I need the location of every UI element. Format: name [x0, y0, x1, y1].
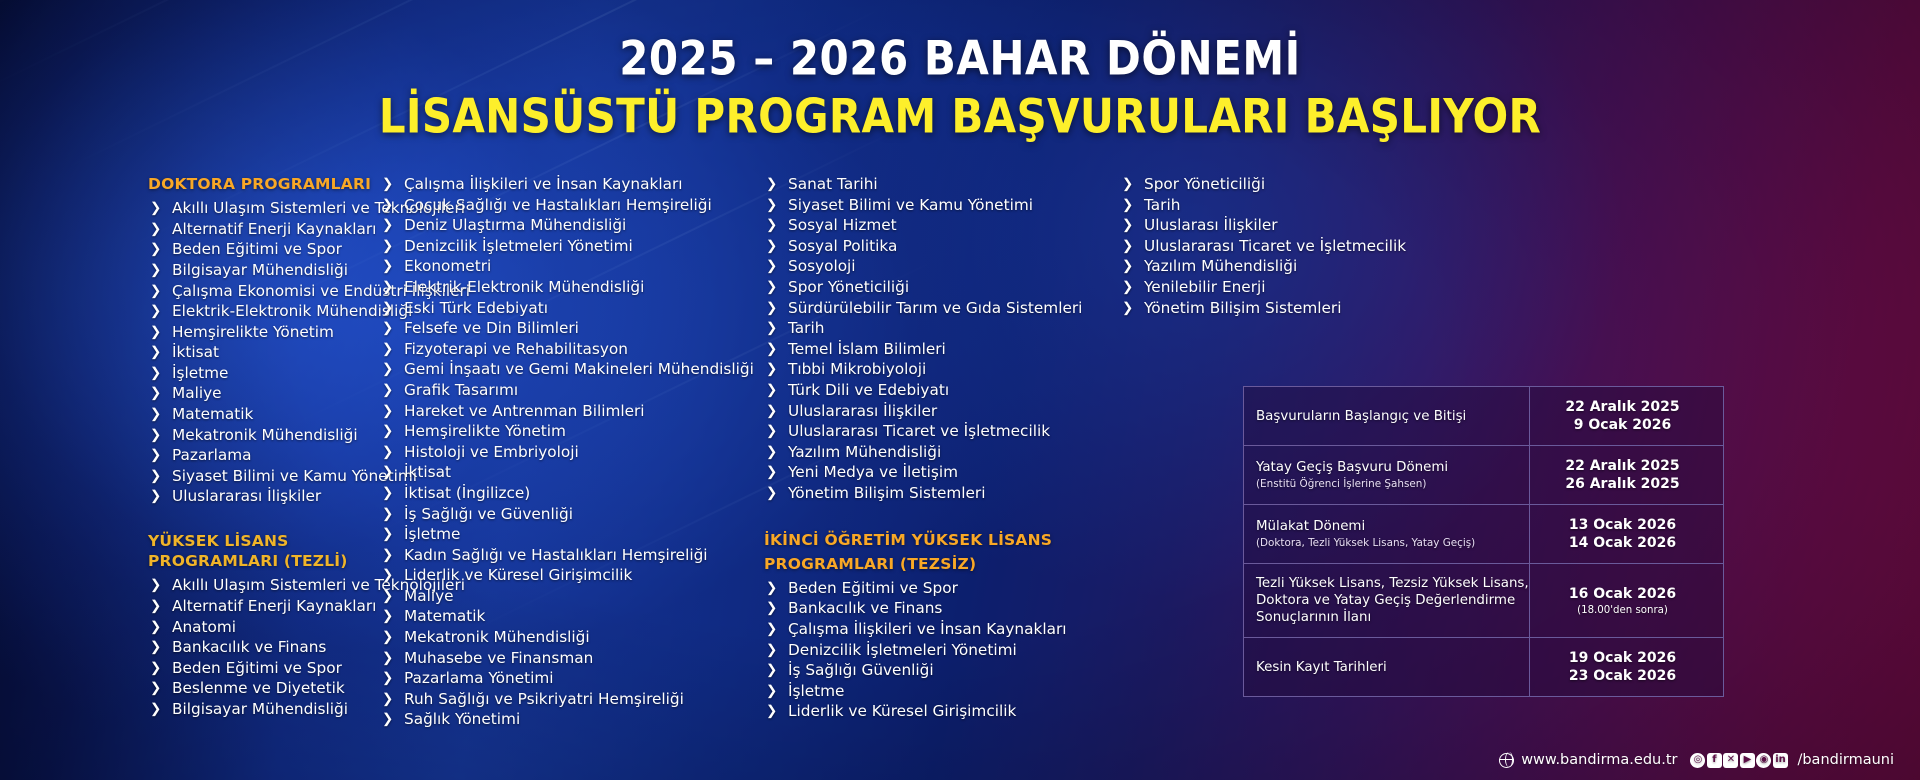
- program-list-item: ❯Spor Yöneticiliği: [764, 277, 1104, 298]
- program-list-item: ❯Uluslararası Ticaret ve İşletmecilik: [1120, 236, 1484, 257]
- list-doktora-programlari: ❯Akıllı Ulaşım Sistemleri ve Teknolojile…: [148, 198, 372, 507]
- chevron-right-icon: ❯: [766, 640, 777, 661]
- chevron-right-icon: ❯: [150, 658, 161, 679]
- chevron-right-icon: ❯: [1122, 277, 1133, 298]
- schedule-row-dates: 16 Ocak 2026(18.00'den sonra): [1530, 564, 1724, 638]
- program-list-item: ❯Yönetim Bilişim Sistemleri: [764, 483, 1104, 504]
- chevron-right-icon: ❯: [382, 380, 393, 401]
- chevron-right-icon: ❯: [382, 648, 393, 669]
- chevron-right-icon: ❯: [150, 260, 161, 281]
- program-list-item: ❯Hemşirelikte Yönetim: [148, 322, 372, 343]
- program-list-item: ❯Maliye: [148, 383, 372, 404]
- schedule-row-label: Kesin Kayıt Tarihleri: [1244, 638, 1530, 697]
- program-list-item: ❯Çalışma Ekonomisi ve Endüstri İlişkiler…: [148, 281, 372, 302]
- program-list-item: ❯Uluslararası İlişkiler: [148, 486, 372, 507]
- program-list-item: ❯İş Sağlığı Güvenliği: [764, 660, 1104, 681]
- program-name: Liderlik ve Küresel Girişimcilik: [404, 566, 632, 584]
- chevron-right-icon: ❯: [150, 637, 161, 658]
- program-name: İşletme: [172, 364, 228, 382]
- program-name: Tıbbi Mikrobiyoloji: [788, 360, 926, 378]
- program-list-item: ❯Matematik: [380, 606, 764, 627]
- chevron-right-icon: ❯: [766, 339, 777, 360]
- schedule-table: Başvuruların Başlangıç ve Bitişi22 Aralı…: [1243, 386, 1724, 697]
- program-list-item: ❯ Liderlik ve Küresel Girişimcilik: [764, 701, 1104, 722]
- schedule-date-end: 14 Ocak 2026: [1536, 534, 1709, 552]
- heading-ikinci-ogretim-line-2: PROGRAMLARI (TEZSİZ): [764, 554, 1104, 574]
- program-list-item: ❯İşletme: [764, 681, 1104, 702]
- chevron-right-icon: ❯: [150, 678, 161, 699]
- program-list-item: ❯Uluslararası İlişkiler: [764, 401, 1104, 422]
- list-ikinci-ogretim-tezsiz: ❯Beden Eğitimi ve Spor❯Bankacılık ve Fin…: [764, 578, 1104, 722]
- program-list-item: ❯İşletme: [148, 363, 372, 384]
- program-list-item: ❯Kadın Sağlığı ve Hastalıkları Hemşireli…: [380, 545, 764, 566]
- program-list-item: ❯Yazılım Mühendisliği: [1120, 256, 1484, 277]
- title-line-1: 2025 – 2026 BAHAR DÖNEMİ: [0, 34, 1920, 83]
- program-name: Yönetim Bilişim Sistemleri: [788, 484, 985, 502]
- chevron-right-icon: ❯: [150, 699, 161, 720]
- program-name: Beden Eğitimi ve Spor: [788, 579, 958, 597]
- program-list-item: ❯Uluslarası İlişkiler: [1120, 215, 1484, 236]
- program-list-item: ❯Yeni Medya ve İletişim: [764, 462, 1104, 483]
- chevron-right-icon: ❯: [1122, 298, 1133, 319]
- program-name: Anatomi: [172, 618, 236, 636]
- chevron-right-icon: ❯: [382, 421, 393, 442]
- program-name: İktisat (İngilizce): [404, 484, 530, 502]
- program-list-item: ❯Muhasebe ve Finansman: [380, 648, 764, 669]
- program-list-item: ❯İşletme: [380, 524, 764, 545]
- globe-icon: [1499, 753, 1514, 768]
- program-list-item: ❯Maliye: [380, 586, 764, 607]
- schedule-date-end: 9 Ocak 2026: [1536, 416, 1709, 434]
- schedule-date-start: 19 Ocak 2026: [1536, 649, 1709, 667]
- list-yuksek-lisans-tezli: ❯Akıllı Ulaşım Sistemleri ve Teknolojile…: [148, 575, 372, 719]
- chevron-right-icon: ❯: [150, 596, 161, 617]
- program-name: Pazarlama: [172, 446, 252, 464]
- chevron-right-icon: ❯: [150, 425, 161, 446]
- program-list-item: ❯Ekonometri: [380, 256, 764, 277]
- program-list-item: ❯Türk Dili ve Edebiyatı: [764, 380, 1104, 401]
- chevron-right-icon: ❯: [766, 256, 777, 277]
- program-name: Siyaset Bilimi ve Kamu Yönetimi: [788, 196, 1033, 214]
- chevron-right-icon: ❯: [1122, 215, 1133, 236]
- chevron-right-icon: ❯: [150, 445, 161, 466]
- program-name: Beden Eğitimi ve Spor: [172, 659, 342, 677]
- program-name: Çalışma İlişkileri ve İnsan Kaynakları: [404, 175, 683, 193]
- program-list-item: ❯Çalışma İlişkileri ve İnsan Kaynakları: [380, 174, 764, 195]
- chevron-right-icon: ❯: [382, 504, 393, 525]
- chevron-right-icon: ❯: [766, 660, 777, 681]
- social-handle: /bandirmauni: [1797, 752, 1894, 768]
- program-name: İktisat: [172, 343, 219, 361]
- program-list-item: ❯Çalışma İlişkileri ve İnsan Kaynakları: [764, 619, 1104, 640]
- program-list-item: ❯Deniz Ulaştırma Mühendisliği: [380, 215, 764, 236]
- program-list-item: ❯İktisat (İngilizce): [380, 483, 764, 504]
- chevron-right-icon: ❯: [382, 586, 393, 607]
- chevron-right-icon: ❯: [766, 298, 777, 319]
- chevron-right-icon: ❯: [382, 442, 393, 463]
- chevron-right-icon: ❯: [382, 277, 393, 298]
- program-list-item: ❯Hemşirelikte Yönetim: [380, 421, 764, 442]
- chevron-right-icon: ❯: [766, 462, 777, 483]
- chevron-right-icon: ❯: [150, 301, 161, 322]
- chevron-right-icon: ❯: [382, 689, 393, 710]
- chevron-right-icon: ❯: [150, 198, 161, 219]
- chevron-right-icon: ❯: [150, 383, 161, 404]
- program-name: Uluslararası Ticaret ve İşletmecilik: [1144, 237, 1406, 255]
- program-name: Uluslararası İlişkiler: [172, 487, 321, 505]
- program-name: Matematik: [172, 405, 253, 423]
- schedule-row-dates: 22 Aralık 20259 Ocak 2026: [1530, 387, 1724, 446]
- chevron-right-icon: ❯: [766, 483, 777, 504]
- program-name: Felsefe ve Din Bilimleri: [404, 319, 579, 337]
- program-name: Eski Türk Edebiyatı: [404, 299, 548, 317]
- schedule-row-dates: 19 Ocak 202623 Ocak 2026: [1530, 638, 1724, 697]
- program-list-item: ❯Hareket ve Antrenman Bilimleri: [380, 401, 764, 422]
- chevron-right-icon: ❯: [150, 239, 161, 260]
- schedule-row: Yatay Geçiş Başvuru Dönemi(Enstitü Öğren…: [1244, 446, 1724, 505]
- program-list-item: ❯Denizcilik İşletmeleri Yönetimi: [764, 640, 1104, 661]
- schedule-date-start: 22 Aralık 2025: [1536, 457, 1709, 475]
- chevron-right-icon: ❯: [382, 709, 393, 730]
- program-name: Sağlık Yönetimi: [404, 710, 520, 728]
- program-name: Grafik Tasarımı: [404, 381, 518, 399]
- program-list-item: ❯Fizyoterapi ve Rehabilitasyon: [380, 339, 764, 360]
- facebook-icon[interactable]: f: [1707, 753, 1722, 768]
- program-name: Beden Eğitimi ve Spor: [172, 240, 342, 258]
- program-name: Sanat Tarihi: [788, 175, 878, 193]
- program-name: Mekatronik Mühendisliği: [404, 628, 590, 646]
- chevron-right-icon: ❯: [766, 401, 777, 422]
- program-name: Hemşirelikte Yönetim: [172, 323, 334, 341]
- program-list-item: ❯Siyaset Bilimi ve Kamu Yönetimi: [764, 195, 1104, 216]
- list-yuksek-lisans-tezli-cont-2: ❯Sanat Tarihi❯Siyaset Bilimi ve Kamu Yön…: [764, 174, 1104, 504]
- chevron-right-icon: ❯: [150, 342, 161, 363]
- program-list-item: ❯Sosyal Hizmet: [764, 215, 1104, 236]
- list-yuksek-lisans-tezli-cont-3: ❯Spor Yöneticiliği❯Tarih❯Uluslarası İliş…: [1120, 174, 1484, 318]
- footer-contact: www.bandirma.edu.tr ◎f✕▶◉in /bandirmauni: [1499, 752, 1894, 768]
- chevron-right-icon: ❯: [150, 466, 161, 487]
- program-name: Pazarlama Yönetimi: [404, 669, 554, 687]
- program-name: Çocuk Sağlığı ve Hastalıkları Hemşireliğ…: [404, 196, 712, 214]
- program-list-item: ❯Anatomi: [148, 617, 372, 638]
- social-icons: ◎f✕▶◉in: [1690, 753, 1789, 768]
- column-3: ❯Sanat Tarihi❯Siyaset Bilimi ve Kamu Yön…: [764, 174, 1104, 730]
- chevron-right-icon: ❯: [766, 318, 777, 339]
- telegram-icon[interactable]: ◉: [1756, 753, 1771, 768]
- heading-doktora-programlari: DOKTORA PROGRAMLARI: [148, 174, 372, 194]
- chevron-right-icon: ❯: [382, 236, 393, 257]
- schedule-row-dates: 22 Aralık 202526 Aralık 2025: [1530, 446, 1724, 505]
- program-list-item: ❯Beslenme ve Diyetetik: [148, 678, 372, 699]
- chevron-right-icon: ❯: [382, 256, 393, 277]
- program-name: Maliye: [172, 384, 222, 402]
- schedule-date-note: (18.00'den sonra): [1536, 604, 1709, 617]
- program-name: Yazılım Mühendisliği: [788, 443, 941, 461]
- chevron-right-icon: ❯: [382, 318, 393, 339]
- program-name: Sosyoloji: [788, 257, 856, 275]
- program-list-item: ❯Tarih: [764, 318, 1104, 339]
- poster-header: 2025 – 2026 BAHAR DÖNEMİ LİSANSÜSTÜ PROG…: [0, 34, 1920, 136]
- schedule-label-sub: (Doktora, Tezli Yüksek Lisans, Yatay Geç…: [1256, 536, 1529, 550]
- schedule-row: Mülakat Dönemi(Doktora, Tezli Yüksek Lis…: [1244, 505, 1724, 564]
- program-name: Fizyoterapi ve Rehabilitasyon: [404, 340, 628, 358]
- program-name: Alternatif Enerji Kaynakları: [172, 220, 376, 238]
- schedule-date-end: 26 Aralık 2025: [1536, 475, 1709, 493]
- program-list-item: ❯Bilgisayar Mühendisliği: [148, 260, 372, 281]
- column-2: ❯Çalışma İlişkileri ve İnsan Kaynakları❯…: [372, 174, 764, 730]
- schedule-row-label: Tezli Yüksek Lisans, Tezsiz Yüksek Lisan…: [1244, 564, 1530, 638]
- chevron-right-icon: ❯: [150, 363, 161, 384]
- program-name: Elektrik-Elektronik Mühendisliği: [404, 278, 644, 296]
- chevron-right-icon: ❯: [766, 215, 777, 236]
- program-list-item: ❯Matematik: [148, 404, 372, 425]
- program-name: Muhasebe ve Finansman: [404, 649, 593, 667]
- schedule-date-start: 16 Ocak 2026: [1536, 585, 1709, 603]
- program-list-item: ❯Sosyoloji: [764, 256, 1104, 277]
- chevron-right-icon: ❯: [382, 174, 393, 195]
- program-name: Alternatif Enerji Kaynakları: [172, 597, 376, 615]
- program-list-item: ❯Spor Yöneticiliği: [1120, 174, 1484, 195]
- program-list-item: ❯Bankacılık ve Finans: [764, 598, 1104, 619]
- chevron-right-icon: ❯: [766, 277, 777, 298]
- program-list-item: ❯Tarih: [1120, 195, 1484, 216]
- chevron-right-icon: ❯: [150, 575, 161, 596]
- program-list-item: ❯Eski Türk Edebiyatı: [380, 298, 764, 319]
- program-list-item: ❯Uluslararası Ticaret ve İşletmecilik: [764, 421, 1104, 442]
- chevron-right-icon: ❯: [382, 298, 393, 319]
- program-name: Deniz Ulaştırma Mühendisliği: [404, 216, 626, 234]
- chevron-right-icon: ❯: [382, 339, 393, 360]
- program-name: Uluslararası İlişkiler: [788, 402, 937, 420]
- program-name: Gemi İnşaatı ve Gemi Makineleri Mühendis…: [404, 360, 754, 378]
- program-list-item: ❯İktisat: [148, 342, 372, 363]
- program-list-item: ❯Elektrik-Elektronik Mühendisliği: [380, 277, 764, 298]
- schedule-label-main: Tezli Yüksek Lisans, Tezsiz Yüksek Lisan…: [1256, 576, 1529, 625]
- program-name: Histoloji ve Embriyoloji: [404, 443, 579, 461]
- chevron-right-icon: ❯: [766, 578, 777, 599]
- program-name: Tarih: [788, 319, 824, 337]
- chevron-right-icon: ❯: [766, 380, 777, 401]
- program-name: Bankacılık ve Finans: [172, 638, 326, 656]
- instagram-icon[interactable]: ◎: [1690, 753, 1705, 768]
- program-name: Maliye: [404, 587, 454, 605]
- program-list-item: ❯Temel İslam Bilimleri: [764, 339, 1104, 360]
- schedule-label-main: Mülakat Dönemi: [1256, 519, 1365, 534]
- program-list-item: ❯Beden Eğitimi ve Spor: [148, 239, 372, 260]
- program-name: Yönetim Bilişim Sistemleri: [1144, 299, 1341, 317]
- program-name: Denizcilik İşletmeleri Yönetimi: [404, 237, 633, 255]
- program-name: Hemşirelikte Yönetim: [404, 422, 566, 440]
- heading-yuksek-lisans-tezli: YÜKSEK LİSANS PROGRAMLARI (TEZLİ): [148, 531, 372, 571]
- program-list-item: ❯Alternatif Enerji Kaynakları: [148, 596, 372, 617]
- program-name: İktisat: [404, 463, 451, 481]
- program-list-item: ❯Akıllı Ulaşım Sistemleri ve Teknolojile…: [148, 198, 372, 219]
- program-list-item: ❯Mekatronik Mühendisliği: [380, 627, 764, 648]
- chevron-right-icon: ❯: [382, 195, 393, 216]
- chevron-right-icon: ❯: [1122, 195, 1133, 216]
- program-name: Uluslarası İlişkiler: [1144, 216, 1278, 234]
- program-name: Hareket ve Antrenman Bilimleri: [404, 402, 645, 420]
- program-name: Bilgisayar Mühendisliği: [172, 700, 348, 718]
- program-list-item: ❯Gemi İnşaatı ve Gemi Makineleri Mühendi…: [380, 359, 764, 380]
- chevron-right-icon: ❯: [382, 215, 393, 236]
- chevron-right-icon: ❯: [766, 598, 777, 619]
- chevron-right-icon: ❯: [382, 462, 393, 483]
- program-name: Ruh Sağlığı ve Psikriyatri Hemşireliği: [404, 690, 684, 708]
- program-list-item: ❯Tıbbi Mikrobiyoloji: [764, 359, 1104, 380]
- schedule-date-start: 13 Ocak 2026: [1536, 516, 1709, 534]
- program-name: Yazılım Mühendisliği: [1144, 257, 1297, 275]
- program-name: Denizcilik İşletmeleri Yönetimi: [788, 641, 1017, 659]
- chevron-right-icon: ❯: [382, 565, 393, 586]
- program-name: Türk Dili ve Edebiyatı: [788, 381, 949, 399]
- program-list-item: ❯Sürdürülebilir Tarım ve Gıda Sistemleri: [764, 298, 1104, 319]
- program-list-item: ❯Liderlik ve Küresel Girişimcilik: [380, 565, 764, 586]
- schedule-row: Başvuruların Başlangıç ve Bitişi22 Aralı…: [1244, 387, 1724, 446]
- schedule-label-main: Yatay Geçiş Başvuru Dönemi: [1256, 460, 1448, 475]
- chevron-right-icon: ❯: [382, 606, 393, 627]
- chevron-right-icon: ❯: [766, 701, 777, 722]
- program-list-item: ❯Mekatronik Mühendisliği: [148, 425, 372, 446]
- program-name: Uluslararası Ticaret ve İşletmecilik: [788, 422, 1050, 440]
- program-name: Bilgisayar Mühendisliği: [172, 261, 348, 279]
- chevron-right-icon: ❯: [766, 681, 777, 702]
- chevron-right-icon: ❯: [150, 219, 161, 240]
- chevron-right-icon: ❯: [382, 359, 393, 380]
- schedule-label-main: Kesin Kayıt Tarihleri: [1256, 660, 1387, 675]
- program-list-item: ❯İş Sağlığı ve Güvenliği: [380, 504, 764, 525]
- chevron-right-icon: ❯: [150, 404, 161, 425]
- program-name: Mekatronik Mühendisliği: [172, 426, 358, 444]
- program-list-item: ❯Elektrik-Elektronik Mühendisliği: [148, 301, 372, 322]
- program-list-item: ❯Alternatif Enerji Kaynakları: [148, 219, 372, 240]
- program-name: Çalışma İlişkileri ve İnsan Kaynakları: [788, 620, 1067, 638]
- heading-ikinci-ogretim-line-1: İKİNCİ ÖĞRETİM YÜKSEK LİSANS: [764, 530, 1104, 550]
- program-name: İşletme: [788, 682, 844, 700]
- program-list-item: ❯Sanat Tarihi: [764, 174, 1104, 195]
- program-name: Spor Yöneticiliği: [788, 278, 909, 296]
- program-name: Tarih: [1144, 196, 1180, 214]
- chevron-right-icon: ❯: [1122, 236, 1133, 257]
- chevron-right-icon: ❯: [766, 359, 777, 380]
- program-list-item: ❯Pazarlama Yönetimi: [380, 668, 764, 689]
- schedule-row-label: Yatay Geçiş Başvuru Dönemi(Enstitü Öğren…: [1244, 446, 1530, 505]
- program-list-item: ❯Beden Eğitimi ve Spor: [764, 578, 1104, 599]
- youtube-icon[interactable]: ▶: [1740, 753, 1755, 768]
- chevron-right-icon: ❯: [1122, 174, 1133, 195]
- chevron-right-icon: ❯: [1122, 256, 1133, 277]
- program-list-item: ❯Denizcilik İşletmeleri Yönetimi: [380, 236, 764, 257]
- chevron-right-icon: ❯: [382, 627, 393, 648]
- chevron-right-icon: ❯: [766, 619, 777, 640]
- program-list-item: ❯Sağlık Yönetimi: [380, 709, 764, 730]
- program-name: Liderlik ve Küresel Girişimcilik: [788, 702, 1016, 720]
- program-list-item: ❯Beden Eğitimi ve Spor: [148, 658, 372, 679]
- schedule-row: Tezli Yüksek Lisans, Tezsiz Yüksek Lisan…: [1244, 564, 1724, 638]
- schedule-label-main: Başvuruların Başlangıç ve Bitişi: [1256, 409, 1466, 424]
- column-1: DOKTORA PROGRAMLARI ❯Akıllı Ulaşım Siste…: [0, 174, 372, 730]
- schedule-table-body: Başvuruların Başlangıç ve Bitişi22 Aralı…: [1244, 387, 1724, 697]
- chevron-right-icon: ❯: [382, 524, 393, 545]
- chevron-right-icon: ❯: [150, 486, 161, 507]
- program-list-item: ❯Bilgisayar Mühendisliği: [148, 699, 372, 720]
- chevron-right-icon: ❯: [382, 483, 393, 504]
- program-name: Beslenme ve Diyetetik: [172, 679, 345, 697]
- program-name: Sosyal Politika: [788, 237, 897, 255]
- schedule-row-label: Başvuruların Başlangıç ve Bitişi: [1244, 387, 1530, 446]
- program-name: İş Sağlığı Güvenliği: [788, 661, 934, 679]
- schedule-row: Kesin Kayıt Tarihleri19 Ocak 202623 Ocak…: [1244, 638, 1724, 697]
- website-url[interactable]: www.bandirma.edu.tr: [1521, 752, 1677, 768]
- x-twitter-icon[interactable]: ✕: [1723, 753, 1738, 768]
- program-list-item: ❯Yazılım Mühendisliği: [764, 442, 1104, 463]
- program-list-item: ❯Felsefe ve Din Bilimleri: [380, 318, 764, 339]
- program-name: Yenilebilir Enerji: [1144, 278, 1266, 296]
- chevron-right-icon: ❯: [766, 174, 777, 195]
- program-list-item: ❯Sosyal Politika: [764, 236, 1104, 257]
- program-list-item: ❯Yenilebilir Enerji: [1120, 277, 1484, 298]
- schedule-date-start: 22 Aralık 2025: [1536, 398, 1709, 416]
- program-name: Kadın Sağlığı ve Hastalıkları Hemşireliğ…: [404, 546, 708, 564]
- chevron-right-icon: ❯: [150, 281, 161, 302]
- schedule-row-dates: 13 Ocak 202614 Ocak 2026: [1530, 505, 1724, 564]
- list-yuksek-lisans-tezli-cont-1: ❯Çalışma İlişkileri ve İnsan Kaynakları❯…: [380, 174, 764, 730]
- program-list-item: ❯İktisat: [380, 462, 764, 483]
- program-list-item: ❯Grafik Tasarımı: [380, 380, 764, 401]
- chevron-right-icon: ❯: [382, 668, 393, 689]
- schedule-date-end: 23 Ocak 2026: [1536, 667, 1709, 685]
- title-line-2: LİSANSÜSTÜ PROGRAM BAŞVURULARI BAŞLIYOR: [0, 92, 1920, 141]
- program-list-item: ❯Ruh Sağlığı ve Psikriyatri Hemşireliği: [380, 689, 764, 710]
- program-list-item: ❯Pazarlama: [148, 445, 372, 466]
- chevron-right-icon: ❯: [766, 421, 777, 442]
- program-list-item: ❯Bankacılık ve Finans: [148, 637, 372, 658]
- schedule-row-label: Mülakat Dönemi(Doktora, Tezli Yüksek Lis…: [1244, 505, 1530, 564]
- chevron-right-icon: ❯: [382, 545, 393, 566]
- program-name: Matematik: [404, 607, 485, 625]
- program-list-item: ❯Histoloji ve Embriyoloji: [380, 442, 764, 463]
- program-list-item: ❯Yönetim Bilişim Sistemleri: [1120, 298, 1484, 319]
- chevron-right-icon: ❯: [150, 322, 161, 343]
- program-name: Sosyal Hizmet: [788, 216, 897, 234]
- program-name: İşletme: [404, 525, 460, 543]
- chevron-right-icon: ❯: [766, 442, 777, 463]
- chevron-right-icon: ❯: [766, 236, 777, 257]
- chevron-right-icon: ❯: [150, 617, 161, 638]
- program-list-item: ❯Siyaset Bilimi ve Kamu Yönetimi: [148, 466, 372, 487]
- program-name: Yeni Medya ve İletişim: [788, 463, 958, 481]
- program-list-item: ❯Çocuk Sağlığı ve Hastalıkları Hemşireli…: [380, 195, 764, 216]
- program-name: Bankacılık ve Finans: [788, 599, 942, 617]
- program-name: Ekonometri: [404, 257, 491, 275]
- schedule-label-sub: (Enstitü Öğrenci İşlerine Şahsen): [1256, 477, 1529, 491]
- linkedin-icon[interactable]: in: [1773, 753, 1788, 768]
- chevron-right-icon: ❯: [382, 401, 393, 422]
- program-name: Spor Yöneticiliği: [1144, 175, 1265, 193]
- program-name: Temel İslam Bilimleri: [788, 340, 946, 358]
- program-name: İş Sağlığı ve Güvenliği: [404, 505, 573, 523]
- chevron-right-icon: ❯: [766, 195, 777, 216]
- program-list-item: ❯Akıllı Ulaşım Sistemleri ve Teknolojile…: [148, 575, 372, 596]
- program-name: Sürdürülebilir Tarım ve Gıda Sistemleri: [788, 299, 1082, 317]
